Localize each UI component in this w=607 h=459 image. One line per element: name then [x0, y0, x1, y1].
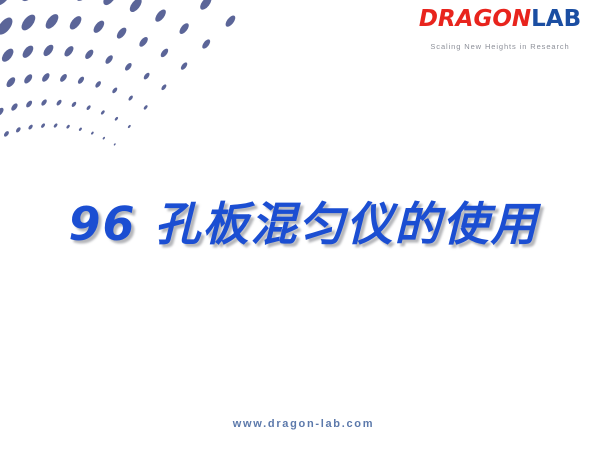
- logo-wordmark: DRAGONLAB: [405, 8, 595, 31]
- logo-lab-text: LAB: [531, 6, 581, 32]
- slide-title: 96 孔板混匀仪的使用: [0, 196, 607, 252]
- logo-tagline: Scaling New Heights in Research: [405, 42, 595, 51]
- halftone-dot-swoosh-decoration: [0, 0, 260, 180]
- logo-dragon-text: DRAGON: [419, 6, 531, 32]
- footer-website-url: www.dragon-lab.com: [0, 418, 607, 430]
- slide-canvas: DRAGONLAB Scaling New Heights in Researc…: [0, 0, 607, 459]
- brand-logo: DRAGONLAB Scaling New Heights in Researc…: [405, 8, 595, 51]
